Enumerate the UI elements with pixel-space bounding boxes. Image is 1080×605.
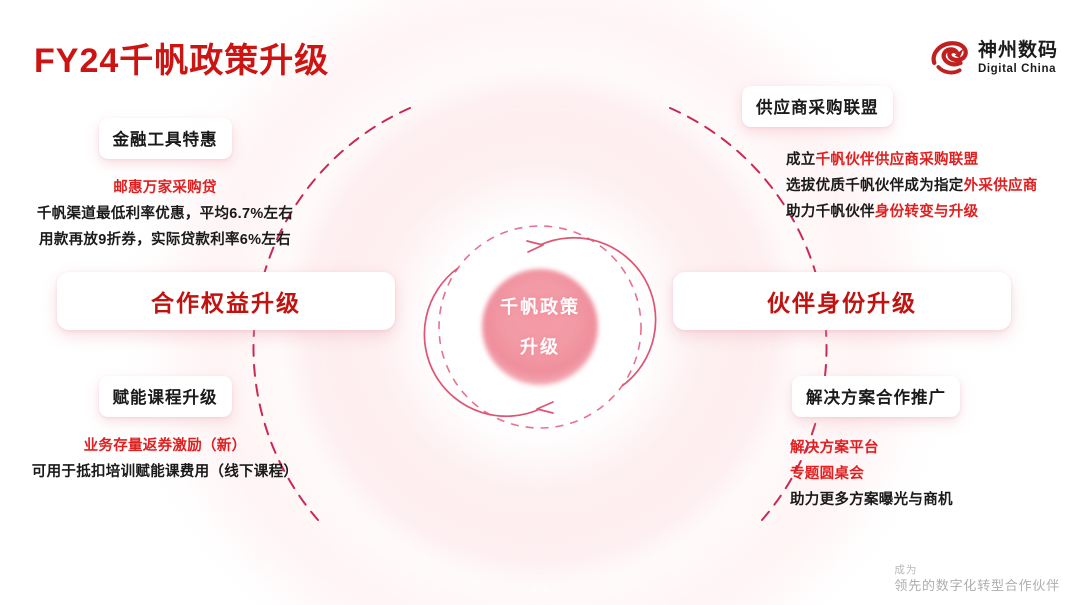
detail-line: 助力千帆伙伴身份转变与升级 <box>786 199 1080 225</box>
detail-line-segment: 邮惠万家采购贷 <box>113 180 217 196</box>
detail-line-segment: 选拔优质千帆伙伴成为指定 <box>786 178 964 194</box>
brand-logo: 神州数码 Digital China <box>929 40 1058 76</box>
detail-line: 业务存量返券激励（新） <box>0 433 330 459</box>
detail-line: 邮惠万家采购贷 <box>0 175 330 201</box>
page-title: FY24千帆政策升级 <box>34 33 329 82</box>
slide-canvas: FY24千帆政策升级 神州数码 Digital China 千帆政策 升级 合作… <box>0 0 1080 605</box>
quadrant-bottom-right-heading[interactable]: 解决方案合作推广 <box>792 376 960 417</box>
detail-line-segment: 用款再放9折券，实际贷款利率6%左右 <box>39 232 291 248</box>
detail-line-segment: 助力千帆伙伴 <box>786 204 875 220</box>
brand-name-en: Digital China <box>978 64 1058 76</box>
detail-line: 千帆渠道最低利率优惠，平均6.7%左右 <box>0 201 330 227</box>
quadrant-top-right-heading[interactable]: 供应商采购联盟 <box>742 86 893 127</box>
center-hub-line-1: 千帆政策 <box>455 287 625 327</box>
detail-line: 助力更多方案曝光与商机 <box>790 487 1080 513</box>
watermark-big: 领先的数字化转型合作伙伴 <box>894 577 1060 595</box>
detail-line-segment: 专题圆桌会 <box>790 466 864 482</box>
detail-line-segment: 千帆渠道最低利率优惠，平均6.7%左右 <box>37 206 293 222</box>
quadrant-top-right: 供应商采购联盟 成立千帆伙伴供应商采购联盟选拔优质千帆伙伴成为指定外采供应商助力… <box>742 86 1080 225</box>
brand-text: 神州数码 Digital China <box>978 41 1058 76</box>
detail-line: 成立千帆伙伴供应商采购联盟 <box>786 147 1080 173</box>
detail-line-segment: 身份转变与升级 <box>875 204 979 220</box>
center-hub-line-2: 升级 <box>455 327 625 367</box>
brand-name-cn: 神州数码 <box>978 41 1058 60</box>
digital-china-swirl-icon <box>929 40 969 76</box>
watermark-small: 成为 <box>894 563 1060 577</box>
quadrant-top-left-lines: 邮惠万家采购贷千帆渠道最低利率优惠，平均6.7%左右用款再放9折券，实际贷款利率… <box>0 175 330 253</box>
detail-line-segment: 助力更多方案曝光与商机 <box>790 492 953 508</box>
detail-line-segment: 可用于抵扣培训赋能课费用（线下课程） <box>32 464 298 480</box>
quadrant-bottom-left-heading[interactable]: 赋能课程升级 <box>99 376 232 417</box>
quadrant-bottom-left-lines: 业务存量返券激励（新）可用于抵扣培训赋能课费用（线下课程） <box>0 433 330 485</box>
quadrant-bottom-left: 赋能课程升级 业务存量返券激励（新）可用于抵扣培训赋能课费用（线下课程） <box>0 376 330 485</box>
rotation-arrowhead-bottom <box>537 402 553 413</box>
quadrant-bottom-right-lines: 解决方案平台专题圆桌会助力更多方案曝光与商机 <box>790 435 1080 513</box>
rotation-arrowhead-top <box>527 241 543 252</box>
detail-line-segment: 业务存量返券激励（新） <box>84 438 247 454</box>
detail-line-segment: 外采供应商 <box>964 178 1038 194</box>
pillar-right-button[interactable]: 伙伴身份升级 <box>673 272 1011 330</box>
detail-line: 可用于抵扣培训赋能课费用（线下课程） <box>0 459 330 485</box>
detail-line: 专题圆桌会 <box>790 461 1080 487</box>
pillar-left-button[interactable]: 合作权益升级 <box>57 272 395 330</box>
detail-line-segment: 成立 <box>786 152 816 168</box>
footer-watermark: 成为 领先的数字化转型合作伙伴 <box>894 563 1060 595</box>
detail-line-segment: 千帆伙伴供应商采购联盟 <box>816 152 979 168</box>
detail-line: 用款再放9折券，实际贷款利率6%左右 <box>0 227 330 253</box>
detail-line: 选拔优质千帆伙伴成为指定外采供应商 <box>786 173 1080 199</box>
quadrant-bottom-right: 解决方案合作推广 解决方案平台专题圆桌会助力更多方案曝光与商机 <box>742 376 1080 513</box>
center-hub-label: 千帆政策 升级 <box>455 287 625 367</box>
detail-line-segment: 解决方案平台 <box>790 440 879 456</box>
quadrant-top-left-heading[interactable]: 金融工具特惠 <box>99 118 232 159</box>
quadrant-top-right-lines: 成立千帆伙伴供应商采购联盟选拔优质千帆伙伴成为指定外采供应商助力千帆伙伴身份转变… <box>786 147 1080 225</box>
detail-line: 解决方案平台 <box>790 435 1080 461</box>
quadrant-top-left: 金融工具特惠 邮惠万家采购贷千帆渠道最低利率优惠，平均6.7%左右用款再放9折券… <box>0 118 330 253</box>
